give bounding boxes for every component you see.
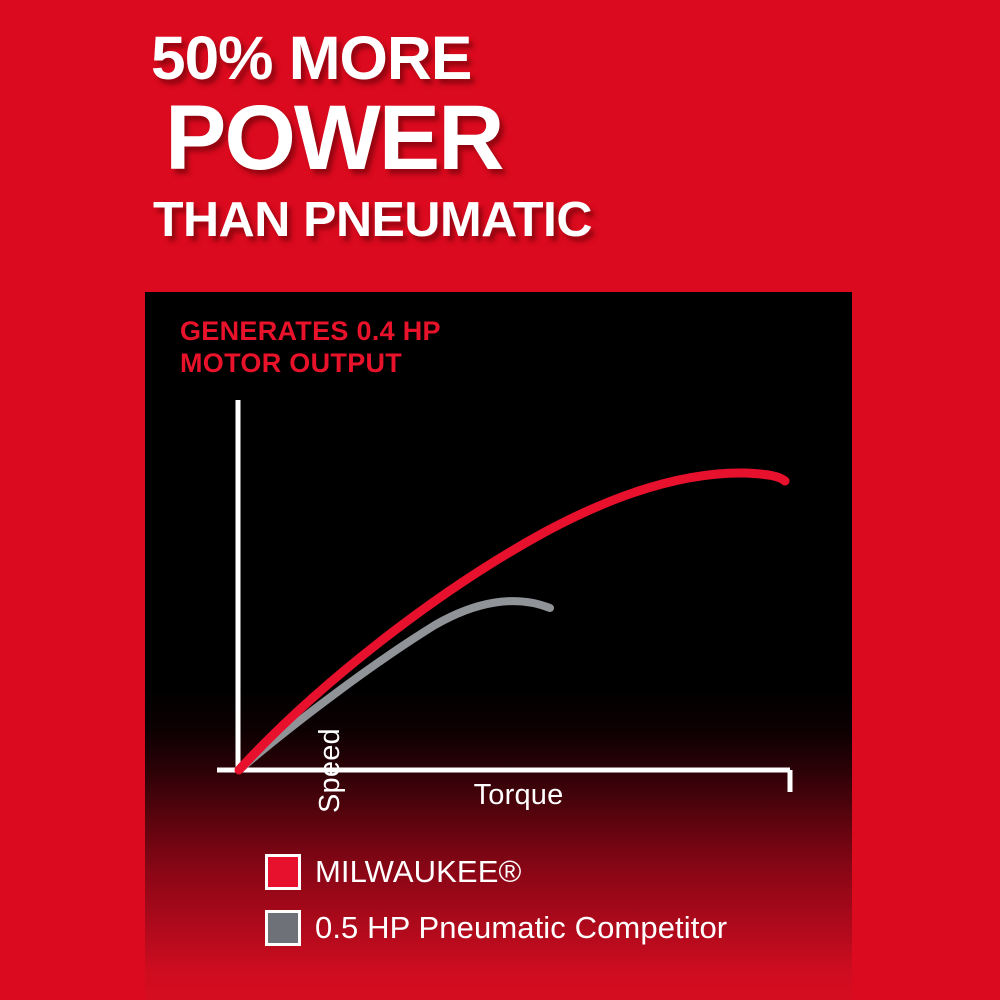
- promo-graphic: 50% MORE POWER THAN PNEUMATIC GENERATES …: [0, 0, 1000, 1000]
- headline-line-1: 50% MORE: [151, 30, 471, 86]
- legend-swatch-competitor: [265, 910, 301, 946]
- headline-block: 50% MORE POWER THAN PNEUMATIC: [0, 0, 1000, 26]
- legend-item-milwaukee: MILWAUKEE®: [265, 844, 727, 900]
- legend-label-competitor: 0.5 HP Pneumatic Competitor: [315, 910, 727, 946]
- legend-item-competitor: 0.5 HP Pneumatic Competitor: [265, 900, 727, 956]
- headline-line-3: THAN PNEUMATIC: [153, 198, 592, 243]
- legend-swatch-milwaukee: [265, 854, 301, 890]
- x-axis-label: Torque: [145, 779, 852, 812]
- legend-label-milwaukee: MILWAUKEE®: [315, 854, 521, 890]
- chart-legend: MILWAUKEE® 0.5 HP Pneumatic Competitor: [265, 844, 727, 956]
- chart-panel: GENERATES 0.4 HP MOTOR OUTPUT Speed Torq…: [145, 292, 852, 1000]
- headline-line-2: POWER: [165, 96, 503, 181]
